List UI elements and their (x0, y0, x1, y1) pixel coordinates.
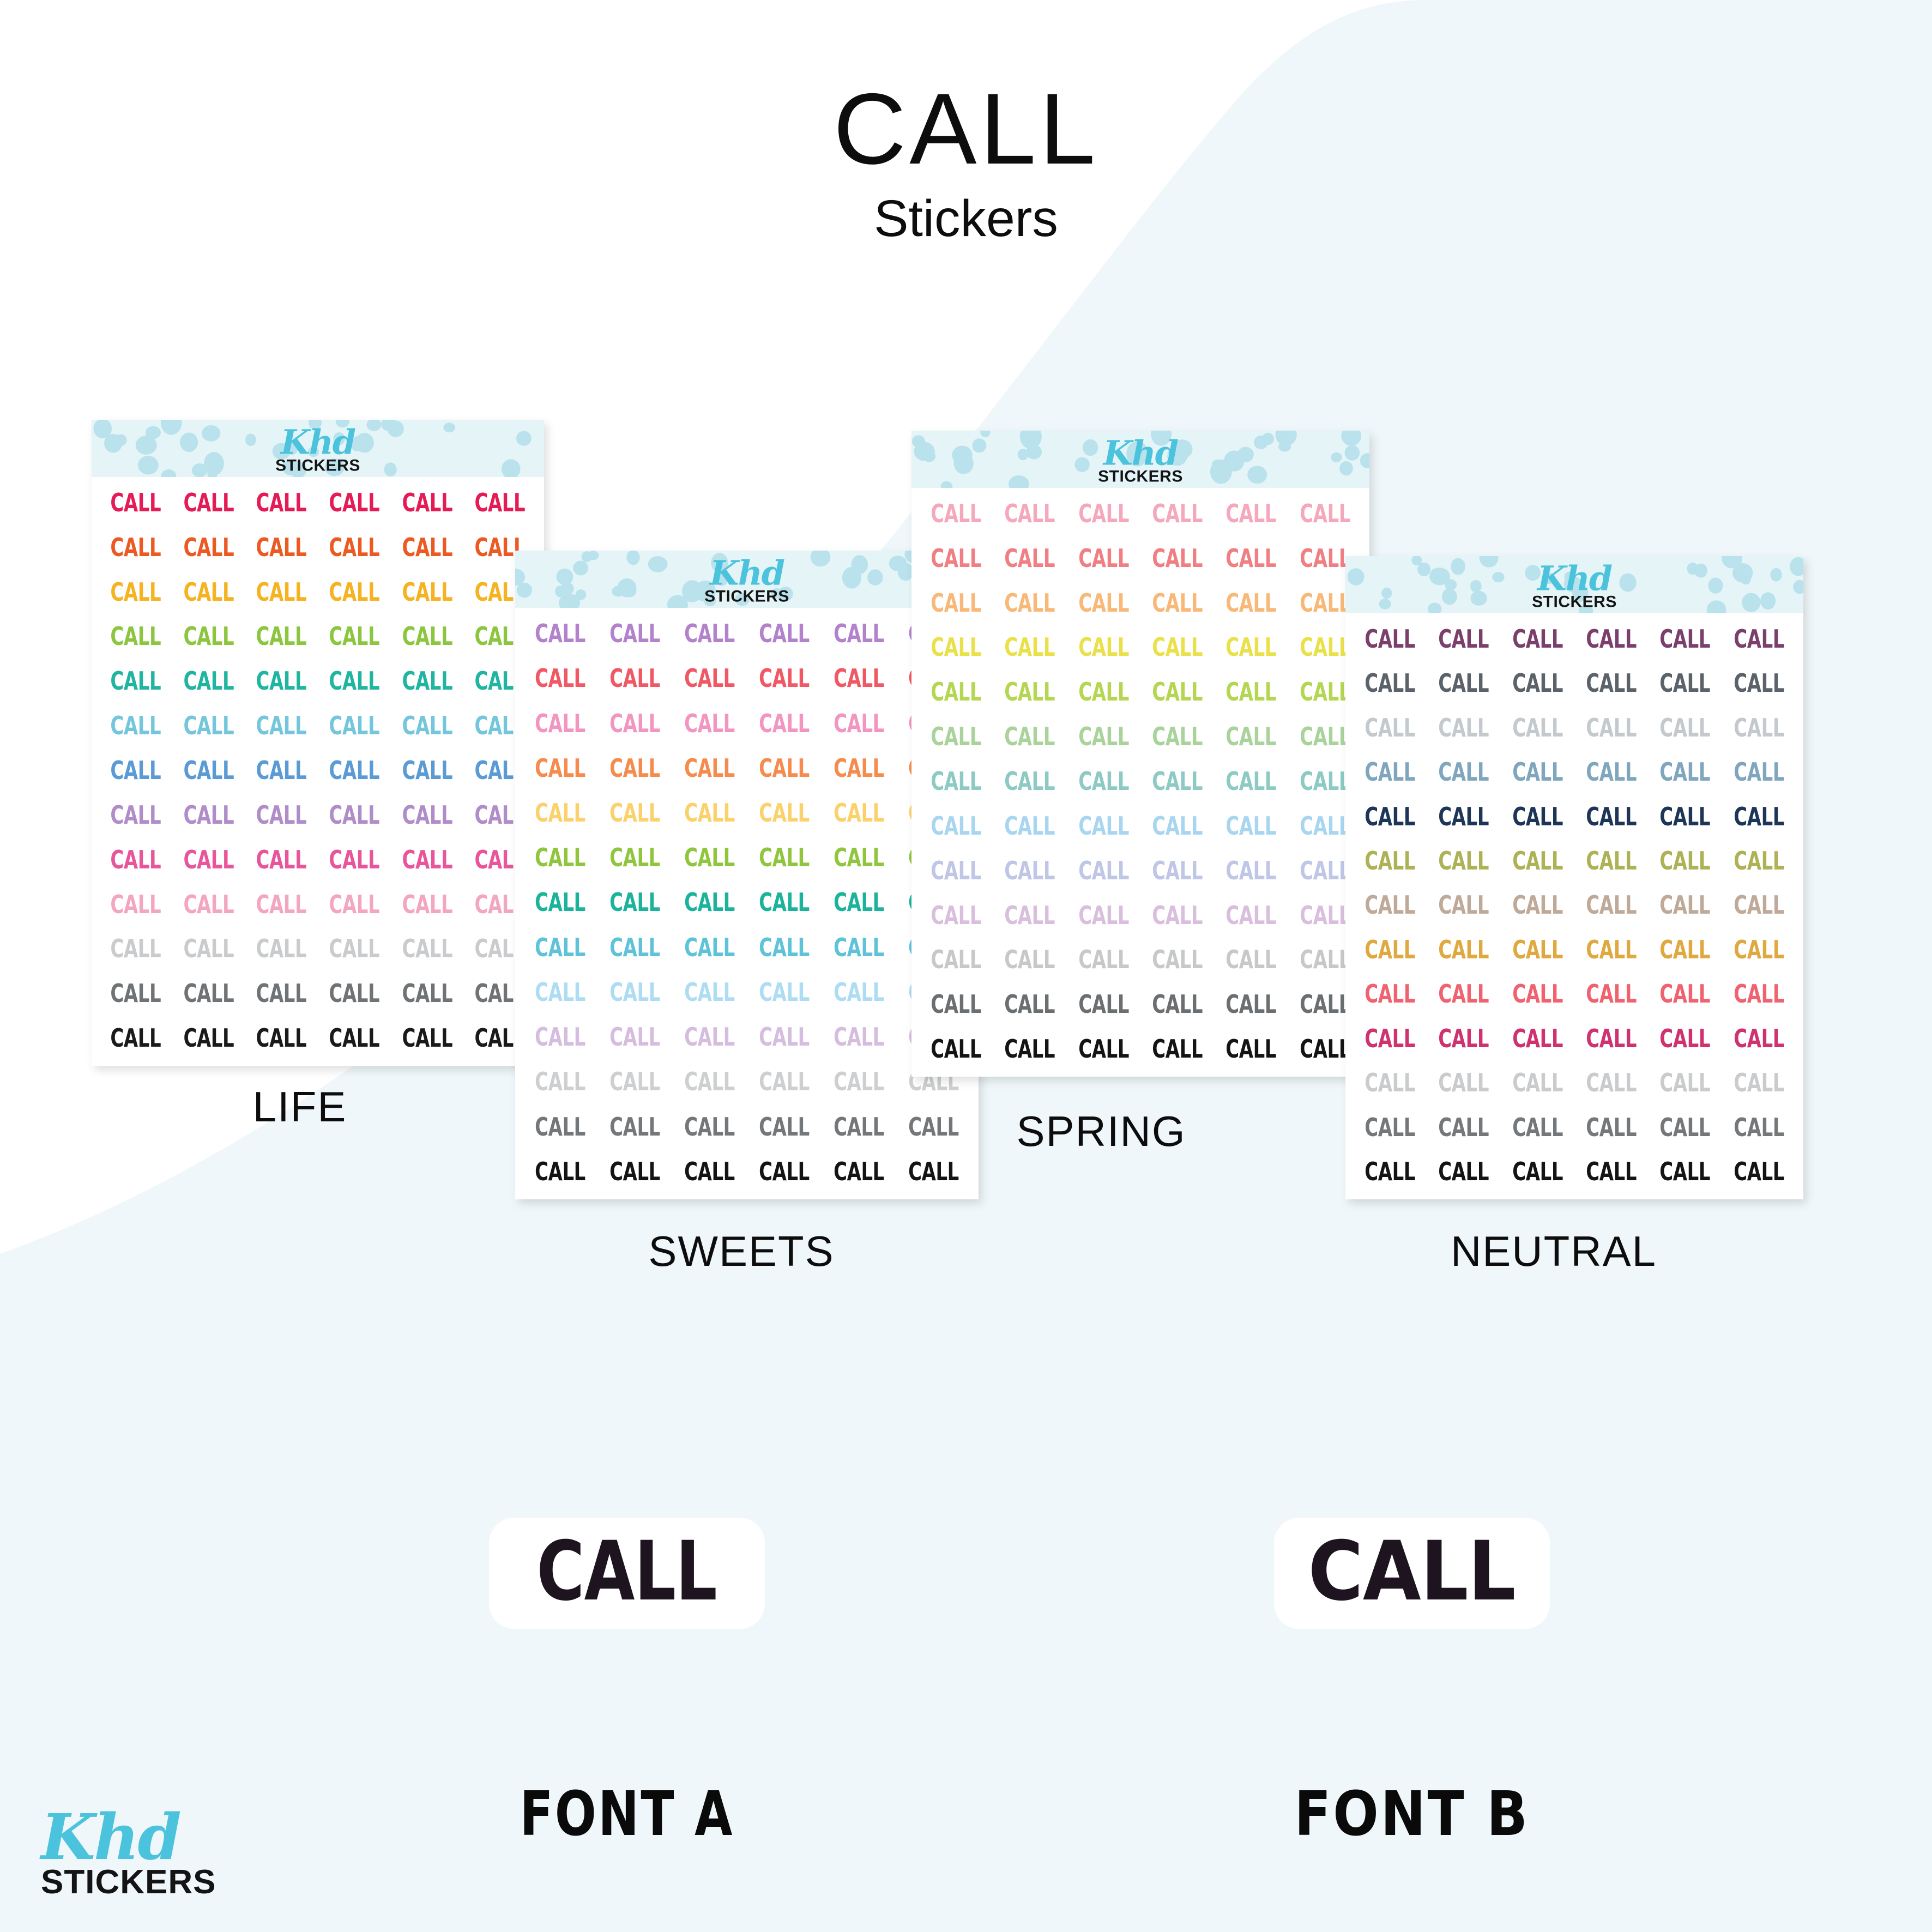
sticker-neutral-r8-c1[interactable]: CALL (1360, 927, 1420, 971)
sheet-caption-sweets: SWEETS (594, 1227, 889, 1276)
sticker-neutral-r5-c5[interactable]: CALL (1655, 794, 1716, 838)
sticker-sweets-r3-c3[interactable]: CALL (679, 701, 740, 745)
sticker-sweets-r1-c1[interactable]: CALL (529, 611, 590, 656)
sticker-life-r9-c4[interactable]: CALL (324, 837, 384, 882)
sticker-neutral-r10-c6[interactable]: CALL (1729, 1016, 1789, 1060)
sticker-neutral-r2-c5[interactable]: CALL (1655, 661, 1716, 705)
sticker-life-r2-c3[interactable]: CALL (251, 525, 311, 570)
sticker-neutral-r2-c4[interactable]: CALL (1581, 661, 1641, 705)
sticker-sweets-r4-c3[interactable]: CALL (679, 746, 740, 790)
sticker-sweets-r11-c2[interactable]: CALL (604, 1059, 665, 1104)
sticker-neutral-r5-c6[interactable]: CALL (1729, 794, 1789, 838)
sticker-neutral-r6-c6[interactable]: CALL (1729, 838, 1789, 883)
sticker-spring-r13-c1[interactable]: CALL (926, 1027, 986, 1071)
sticker-life-r9-c2[interactable]: CALL (179, 837, 239, 882)
sticker-life-r7-c1[interactable]: CALL (106, 748, 166, 793)
sticker-sweets-r13-c5[interactable]: CALL (828, 1149, 889, 1194)
font-sample-a-word: CALL (537, 1531, 717, 1613)
sticker-life-r12-c3[interactable]: CALL (251, 971, 311, 1016)
sticker-neutral-r1-c2[interactable]: CALL (1434, 617, 1494, 661)
sticker-spring-r4-c1[interactable]: CALL (926, 625, 986, 670)
sticker-sweets-r9-c3[interactable]: CALL (679, 970, 740, 1015)
sticker-spring-r13-c2[interactable]: CALL (1000, 1027, 1060, 1071)
sticker-sweets-r9-c1[interactable]: CALL (529, 970, 590, 1015)
sticker-sweets-r8-c2[interactable]: CALL (604, 925, 665, 970)
sticker-neutral-r12-c6[interactable]: CALL (1729, 1105, 1789, 1149)
sticker-life-r1-c6[interactable]: CALL (470, 480, 530, 525)
sticker-life-r4-c1[interactable]: CALL (106, 614, 166, 659)
sticker-spring-r1-c1[interactable]: CALL (926, 491, 986, 536)
sticker-spring-r9-c3[interactable]: CALL (1073, 848, 1134, 893)
sticker-neutral-r1-c4[interactable]: CALL (1581, 617, 1641, 661)
sheet-logo: KhdSTICKERS (1532, 562, 1617, 610)
sticker-sweets-r1-c5[interactable]: CALL (828, 611, 889, 656)
sticker-spring-r8-c4[interactable]: CALL (1147, 804, 1207, 848)
sticker-sweets-r7-c5[interactable]: CALL (828, 880, 889, 925)
sticker-sweets-r10-c1[interactable]: CALL (529, 1015, 590, 1059)
sticker-spring-r2-c4[interactable]: CALL (1147, 536, 1207, 581)
sticker-neutral-r7-c2[interactable]: CALL (1434, 883, 1494, 927)
sticker-spring-r4-c3[interactable]: CALL (1073, 625, 1134, 670)
sticker-spring-r1-c6[interactable]: CALL (1295, 491, 1355, 536)
sticker-sweets-r4-c5[interactable]: CALL (828, 746, 889, 790)
sticker-life-r4-c5[interactable]: CALL (397, 614, 457, 659)
sticker-neutral-r11-c6[interactable]: CALL (1729, 1061, 1789, 1105)
sticker-spring-r12-c5[interactable]: CALL (1221, 982, 1282, 1027)
sheet-logo: KhdSTICKERS (275, 425, 360, 474)
sticker-sweets-r5-c4[interactable]: CALL (753, 790, 814, 835)
sheet-logo-word-text: STICKERS (704, 588, 789, 605)
sticker-life-r8-c2[interactable]: CALL (179, 793, 239, 837)
sticker-spring-r11-c1[interactable]: CALL (926, 937, 986, 982)
sticker-spring-r5-c3[interactable]: CALL (1073, 669, 1134, 714)
sticker-spring-r2-c5[interactable]: CALL (1221, 536, 1282, 581)
sticker-spring-r13-c3[interactable]: CALL (1073, 1027, 1134, 1071)
sticker-life-r7-c5[interactable]: CALL (397, 748, 457, 793)
sticker-life-r10-c3[interactable]: CALL (251, 882, 311, 927)
sticker-spring-r5-c4[interactable]: CALL (1147, 669, 1207, 714)
sticker-sweets-r10-c4[interactable]: CALL (753, 1015, 814, 1059)
sticker-life-r8-c1[interactable]: CALL (106, 793, 166, 837)
sticker-neutral-r11-c2[interactable]: CALL (1434, 1061, 1494, 1105)
sticker-spring-r8-c1[interactable]: CALL (926, 804, 986, 848)
sticker-neutral-r8-c3[interactable]: CALL (1507, 927, 1568, 971)
sticker-neutral-r6-c5[interactable]: CALL (1655, 838, 1716, 883)
sticker-spring-r5-c1[interactable]: CALL (926, 669, 986, 714)
sticker-neutral-r2-c2[interactable]: CALL (1434, 661, 1494, 705)
sticker-sweets-r3-c1[interactable]: CALL (529, 701, 590, 745)
sticker-neutral-r6-c3[interactable]: CALL (1507, 838, 1568, 883)
sticker-neutral-r10-c4[interactable]: CALL (1581, 1016, 1641, 1060)
sticker-neutral-r4-c4[interactable]: CALL (1581, 750, 1641, 794)
sticker-spring-r3-c2[interactable]: CALL (1000, 581, 1060, 625)
sticker-sweets-r2-c5[interactable]: CALL (828, 656, 889, 701)
sticker-sweets-r12-c4[interactable]: CALL (753, 1104, 814, 1149)
sticker-spring-r3-c4[interactable]: CALL (1147, 581, 1207, 625)
sticker-life-r12-c2[interactable]: CALL (179, 971, 239, 1016)
sticker-spring-r7-c3[interactable]: CALL (1073, 759, 1134, 804)
sticker-sweets-r12-c3[interactable]: CALL (679, 1104, 740, 1149)
sticker-life-r11-c3[interactable]: CALL (251, 926, 311, 971)
sticker-life-r2-c1[interactable]: CALL (106, 525, 166, 570)
sticker-sweets-r4-c4[interactable]: CALL (753, 746, 814, 790)
sticker-sweets-r13-c2[interactable]: CALL (604, 1149, 665, 1194)
sticker-sweets-r12-c5[interactable]: CALL (828, 1104, 889, 1149)
sticker-life-r12-c1[interactable]: CALL (106, 971, 166, 1016)
sheet-logo-script-text: Khd (1532, 562, 1617, 595)
sticker-spring-r11-c2[interactable]: CALL (1000, 937, 1060, 982)
sticker-spring-r3-c1[interactable]: CALL (926, 581, 986, 625)
sticker-sweets-r9-c2[interactable]: CALL (604, 970, 665, 1015)
sticker-spring-r4-c2[interactable]: CALL (1000, 625, 1060, 670)
sticker-spring-r1-c4[interactable]: CALL (1147, 491, 1207, 536)
sticker-sheet-neutral[interactable]: KhdSTICKERSCALLCALLCALLCALLCALLCALLCALLC… (1345, 556, 1803, 1199)
sticker-sweets-r11-c3[interactable]: CALL (679, 1059, 740, 1104)
sticker-sweets-r1-c3[interactable]: CALL (679, 611, 740, 656)
sticker-spring-r13-c4[interactable]: CALL (1147, 1027, 1207, 1071)
sticker-spring-r6-c2[interactable]: CALL (1000, 714, 1060, 759)
sticker-spring-r9-c2[interactable]: CALL (1000, 848, 1060, 893)
sticker-spring-r7-c1[interactable]: CALL (926, 759, 986, 804)
sticker-life-r2-c4[interactable]: CALL (324, 525, 384, 570)
sticker-sweets-r7-c4[interactable]: CALL (753, 880, 814, 925)
sticker-neutral-r9-c6[interactable]: CALL (1729, 972, 1789, 1016)
sticker-neutral-r11-c5[interactable]: CALL (1655, 1061, 1716, 1105)
sticker-life-r9-c1[interactable]: CALL (106, 837, 166, 882)
sticker-life-r3-c5[interactable]: CALL (397, 570, 457, 614)
sticker-spring-r10-c3[interactable]: CALL (1073, 893, 1134, 938)
sheet-logo-word-text: STICKERS (1532, 594, 1617, 610)
sticker-life-r10-c1[interactable]: CALL (106, 882, 166, 927)
sticker-sweets-r6-c4[interactable]: CALL (753, 835, 814, 880)
sticker-neutral-r13-c2[interactable]: CALL (1434, 1150, 1494, 1194)
sticker-spring-r9-c4[interactable]: CALL (1147, 848, 1207, 893)
sticker-life-r2-c2[interactable]: CALL (179, 525, 239, 570)
sticker-spring-r2-c1[interactable]: CALL (926, 536, 986, 581)
sticker-spring-r8-c2[interactable]: CALL (1000, 804, 1060, 848)
sticker-neutral-r1-c5[interactable]: CALL (1655, 617, 1716, 661)
sticker-life-r2-c5[interactable]: CALL (397, 525, 457, 570)
sheet-header-band: KhdSTICKERS (92, 420, 544, 477)
sticker-neutral-r1-c3[interactable]: CALL (1507, 617, 1568, 661)
sticker-neutral-r6-c1[interactable]: CALL (1360, 838, 1420, 883)
sticker-neutral-r11-c3[interactable]: CALL (1507, 1061, 1568, 1105)
sticker-life-r1-c5[interactable]: CALL (397, 480, 457, 525)
sticker-neutral-r3-c5[interactable]: CALL (1655, 705, 1716, 750)
sticker-sweets-r9-c5[interactable]: CALL (828, 970, 889, 1015)
sticker-sweets-r3-c2[interactable]: CALL (604, 701, 665, 745)
sticker-neutral-r8-c2[interactable]: CALL (1434, 927, 1494, 971)
sticker-neutral-r7-c1[interactable]: CALL (1360, 883, 1420, 927)
sheet-caption-spring: SPRING (905, 1107, 1297, 1156)
sticker-neutral-r1-c6[interactable]: CALL (1729, 617, 1789, 661)
page-header: CALL Stickers (0, 76, 1932, 250)
sheet-logo: KhdSTICKERS (704, 556, 789, 605)
sticker-neutral-r13-c3[interactable]: CALL (1507, 1150, 1568, 1194)
sticker-sheet-sweets[interactable]: KhdSTICKERSCALLCALLCALLCALLCALLCALLCALLC… (515, 551, 979, 1199)
sticker-sheet-life[interactable]: KhdSTICKERSCALLCALLCALLCALLCALLCALLCALLC… (92, 420, 544, 1066)
sticker-sweets-r3-c5[interactable]: CALL (828, 701, 889, 745)
sticker-spring-r12-c4[interactable]: CALL (1147, 982, 1207, 1027)
sticker-neutral-r13-c1[interactable]: CALL (1360, 1150, 1420, 1194)
sticker-life-r1-c3[interactable]: CALL (251, 480, 311, 525)
sticker-life-r6-c2[interactable]: CALL (179, 703, 239, 748)
sticker-life-r3-c3[interactable]: CALL (251, 570, 311, 614)
sticker-neutral-r9-c5[interactable]: CALL (1655, 972, 1716, 1016)
sticker-life-r3-c1[interactable]: CALL (106, 570, 166, 614)
sticker-neutral-r2-c1[interactable]: CALL (1360, 661, 1420, 705)
sticker-spring-r1-c3[interactable]: CALL (1073, 491, 1134, 536)
sticker-life-r5-c2[interactable]: CALL (179, 659, 239, 703)
sticker-sweets-r10-c2[interactable]: CALL (604, 1015, 665, 1059)
sticker-spring-r7-c5[interactable]: CALL (1221, 759, 1282, 804)
sticker-spring-r3-c5[interactable]: CALL (1221, 581, 1282, 625)
sticker-sweets-r7-c2[interactable]: CALL (604, 880, 665, 925)
sticker-neutral-r4-c1[interactable]: CALL (1360, 750, 1420, 794)
sticker-spring-r1-c5[interactable]: CALL (1221, 491, 1282, 536)
sticker-sweets-r3-c4[interactable]: CALL (753, 701, 814, 745)
sticker-spring-r2-c2[interactable]: CALL (1000, 536, 1060, 581)
sticker-spring-r8-c5[interactable]: CALL (1221, 804, 1282, 848)
sticker-life-r7-c4[interactable]: CALL (324, 748, 384, 793)
sticker-spring-r12-c1[interactable]: CALL (926, 982, 986, 1027)
sticker-spring-r12-c3[interactable]: CALL (1073, 982, 1134, 1027)
sticker-spring-r6-c5[interactable]: CALL (1221, 714, 1282, 759)
sticker-life-r10-c2[interactable]: CALL (179, 882, 239, 927)
sticker-sweets-r8-c4[interactable]: CALL (753, 925, 814, 970)
sticker-life-r11-c2[interactable]: CALL (179, 926, 239, 971)
sheet-header-band: KhdSTICKERS (1345, 556, 1803, 613)
sticker-sweets-r11-c5[interactable]: CALL (828, 1059, 889, 1104)
sticker-life-r5-c4[interactable]: CALL (324, 659, 384, 703)
sticker-neutral-r13-c4[interactable]: CALL (1581, 1150, 1641, 1194)
sticker-life-r4-c2[interactable]: CALL (179, 614, 239, 659)
sticker-life-r9-c3[interactable]: CALL (251, 837, 311, 882)
font-sample-b: CALL FONT B (1199, 1521, 1625, 1845)
sticker-spring-r4-c5[interactable]: CALL (1221, 625, 1282, 670)
sticker-neutral-r1-c1[interactable]: CALL (1360, 617, 1420, 661)
sticker-neutral-r9-c3[interactable]: CALL (1507, 972, 1568, 1016)
sticker-sweets-r5-c2[interactable]: CALL (604, 790, 665, 835)
sticker-sweets-r13-c1[interactable]: CALL (529, 1149, 590, 1194)
sticker-life-r13-c1[interactable]: CALL (106, 1016, 166, 1060)
sticker-neutral-r3-c6[interactable]: CALL (1729, 705, 1789, 750)
font-sample-a-sticker: CALL (492, 1521, 761, 1626)
font-sample-b-word: CALL (1308, 1531, 1516, 1613)
sticker-life-r7-c2[interactable]: CALL (179, 748, 239, 793)
sticker-life-r4-c3[interactable]: CALL (251, 614, 311, 659)
sticker-sweets-r11-c1[interactable]: CALL (529, 1059, 590, 1104)
sticker-neutral-r5-c1[interactable]: CALL (1360, 794, 1420, 838)
sticker-sweets-r8-c3[interactable]: CALL (679, 925, 740, 970)
page-title: CALL (0, 76, 1932, 182)
sticker-neutral-r12-c4[interactable]: CALL (1581, 1105, 1641, 1149)
sticker-life-r6-c3[interactable]: CALL (251, 703, 311, 748)
sticker-life-r12-c4[interactable]: CALL (324, 971, 384, 1016)
sticker-neutral-r7-c4[interactable]: CALL (1581, 883, 1641, 927)
sticker-life-r10-c5[interactable]: CALL (397, 882, 457, 927)
sticker-life-r8-c5[interactable]: CALL (397, 793, 457, 837)
sticker-neutral-r9-c4[interactable]: CALL (1581, 972, 1641, 1016)
sticker-spring-r6-c3[interactable]: CALL (1073, 714, 1134, 759)
sticker-spring-r9-c1[interactable]: CALL (926, 848, 986, 893)
sticker-neutral-r5-c3[interactable]: CALL (1507, 794, 1568, 838)
sticker-neutral-r4-c2[interactable]: CALL (1434, 750, 1494, 794)
sticker-life-r7-c3[interactable]: CALL (251, 748, 311, 793)
sticker-life-r13-c2[interactable]: CALL (179, 1016, 239, 1060)
sticker-sweets-r5-c3[interactable]: CALL (679, 790, 740, 835)
sticker-neutral-r5-c4[interactable]: CALL (1581, 794, 1641, 838)
sticker-spring-r2-c3[interactable]: CALL (1073, 536, 1134, 581)
sticker-neutral-r2-c3[interactable]: CALL (1507, 661, 1568, 705)
sticker-neutral-r12-c1[interactable]: CALL (1360, 1105, 1420, 1149)
sticker-spring-r10-c4[interactable]: CALL (1147, 893, 1207, 938)
sticker-spring-r1-c2[interactable]: CALL (1000, 491, 1060, 536)
sticker-life-r11-c5[interactable]: CALL (397, 926, 457, 971)
sticker-neutral-r9-c1[interactable]: CALL (1360, 972, 1420, 1016)
sheet-caption-life: LIFE (164, 1082, 436, 1132)
sticker-life-r6-c4[interactable]: CALL (324, 703, 384, 748)
page-subtitle: Stickers (0, 188, 1932, 250)
sticker-spring-r11-c5[interactable]: CALL (1221, 937, 1282, 982)
sticker-life-r1-c1[interactable]: CALL (106, 480, 166, 525)
sticker-sweets-r13-c3[interactable]: CALL (679, 1149, 740, 1194)
sticker-neutral-r10-c5[interactable]: CALL (1655, 1016, 1716, 1060)
sticker-sweets-r10-c3[interactable]: CALL (679, 1015, 740, 1059)
sticker-neutral-r11-c1[interactable]: CALL (1360, 1061, 1420, 1105)
sticker-sweets-r4-c1[interactable]: CALL (529, 746, 590, 790)
sticker-spring-r3-c3[interactable]: CALL (1073, 581, 1134, 625)
sticker-neutral-r13-c6[interactable]: CALL (1729, 1150, 1789, 1194)
sticker-spring-r8-c3[interactable]: CALL (1073, 804, 1134, 848)
sticker-sweets-r1-c4[interactable]: CALL (753, 611, 814, 656)
sticker-spring-r7-c4[interactable]: CALL (1147, 759, 1207, 804)
sticker-life-r5-c3[interactable]: CALL (251, 659, 311, 703)
sticker-neutral-r7-c3[interactable]: CALL (1507, 883, 1568, 927)
sticker-sheet-spring[interactable]: KhdSTICKERSCALLCALLCALLCALLCALLCALLCALLC… (911, 431, 1369, 1077)
sticker-life-r11-c1[interactable]: CALL (106, 926, 166, 971)
sticker-life-r6-c5[interactable]: CALL (397, 703, 457, 748)
sticker-spring-r4-c4[interactable]: CALL (1147, 625, 1207, 670)
sticker-life-r8-c3[interactable]: CALL (251, 793, 311, 837)
sticker-life-r3-c4[interactable]: CALL (324, 570, 384, 614)
sticker-sweets-r11-c4[interactable]: CALL (753, 1059, 814, 1104)
sticker-neutral-r4-c6[interactable]: CALL (1729, 750, 1789, 794)
sticker-spring-r10-c1[interactable]: CALL (926, 893, 986, 938)
sticker-sweets-r5-c1[interactable]: CALL (529, 790, 590, 835)
sticker-spring-r9-c5[interactable]: CALL (1221, 848, 1282, 893)
sticker-neutral-r12-c5[interactable]: CALL (1655, 1105, 1716, 1149)
sticker-spring-r11-c4[interactable]: CALL (1147, 937, 1207, 982)
sticker-life-r1-c4[interactable]: CALL (324, 480, 384, 525)
sticker-neutral-r8-c6[interactable]: CALL (1729, 927, 1789, 971)
sticker-neutral-r5-c2[interactable]: CALL (1434, 794, 1494, 838)
sticker-sweets-r12-c2[interactable]: CALL (604, 1104, 665, 1149)
sticker-neutral-r3-c4[interactable]: CALL (1581, 705, 1641, 750)
sticker-spring-r6-c4[interactable]: CALL (1147, 714, 1207, 759)
sticker-neutral-r9-c2[interactable]: CALL (1434, 972, 1494, 1016)
sticker-spring-r12-c2[interactable]: CALL (1000, 982, 1060, 1027)
sticker-sweets-r6-c3[interactable]: CALL (679, 835, 740, 880)
sticker-neutral-r8-c5[interactable]: CALL (1655, 927, 1716, 971)
sticker-sweets-r12-c1[interactable]: CALL (529, 1104, 590, 1149)
sticker-sweets-r1-c2[interactable]: CALL (604, 611, 665, 656)
sticker-sweets-r13-c4[interactable]: CALL (753, 1149, 814, 1194)
sticker-life-r9-c5[interactable]: CALL (397, 837, 457, 882)
sticker-sweets-r6-c1[interactable]: CALL (529, 835, 590, 880)
sticker-neutral-r10-c3[interactable]: CALL (1507, 1016, 1568, 1060)
sticker-neutral-r2-c6[interactable]: CALL (1729, 661, 1789, 705)
sticker-sweets-r2-c4[interactable]: CALL (753, 656, 814, 701)
sticker-sweets-r5-c5[interactable]: CALL (828, 790, 889, 835)
sticker-life-r4-c4[interactable]: CALL (324, 614, 384, 659)
sticker-sweets-r7-c1[interactable]: CALL (529, 880, 590, 925)
sticker-spring-r7-c2[interactable]: CALL (1000, 759, 1060, 804)
sticker-spring-r5-c5[interactable]: CALL (1221, 669, 1282, 714)
sticker-spring-r13-c5[interactable]: CALL (1221, 1027, 1282, 1071)
sticker-life-r5-c1[interactable]: CALL (106, 659, 166, 703)
sticker-life-r13-c5[interactable]: CALL (397, 1016, 457, 1060)
sticker-neutral-r4-c5[interactable]: CALL (1655, 750, 1716, 794)
sticker-neutral-r12-c2[interactable]: CALL (1434, 1105, 1494, 1149)
sticker-neutral-r7-c5[interactable]: CALL (1655, 883, 1716, 927)
sticker-life-r11-c4[interactable]: CALL (324, 926, 384, 971)
sticker-neutral-r3-c1[interactable]: CALL (1360, 705, 1420, 750)
sticker-neutral-r10-c2[interactable]: CALL (1434, 1016, 1494, 1060)
sticker-sweets-r9-c4[interactable]: CALL (753, 970, 814, 1015)
sticker-neutral-r3-c2[interactable]: CALL (1434, 705, 1494, 750)
sticker-neutral-r4-c3[interactable]: CALL (1507, 750, 1568, 794)
sticker-life-r10-c4[interactable]: CALL (324, 882, 384, 927)
sticker-life-r13-c3[interactable]: CALL (251, 1016, 311, 1060)
sticker-sweets-r6-c2[interactable]: CALL (604, 835, 665, 880)
sticker-neutral-r13-c5[interactable]: CALL (1655, 1150, 1716, 1194)
sticker-spring-r6-c1[interactable]: CALL (926, 714, 986, 759)
sticker-life-r3-c2[interactable]: CALL (179, 570, 239, 614)
sticker-spring-r10-c5[interactable]: CALL (1221, 893, 1282, 938)
sticker-neutral-r6-c4[interactable]: CALL (1581, 838, 1641, 883)
sticker-life-r13-c4[interactable]: CALL (324, 1016, 384, 1060)
sticker-life-r6-c1[interactable]: CALL (106, 703, 166, 748)
sheet-logo-script-text: Khd (1098, 436, 1183, 470)
sticker-neutral-r11-c4[interactable]: CALL (1581, 1061, 1641, 1105)
sticker-sweets-r7-c3[interactable]: CALL (679, 880, 740, 925)
sticker-spring-r11-c3[interactable]: CALL (1073, 937, 1134, 982)
sticker-neutral-r8-c4[interactable]: CALL (1581, 927, 1641, 971)
sticker-spring-r5-c2[interactable]: CALL (1000, 669, 1060, 714)
sticker-sweets-r2-c1[interactable]: CALL (529, 656, 590, 701)
sticker-life-r5-c5[interactable]: CALL (397, 659, 457, 703)
sticker-neutral-r3-c3[interactable]: CALL (1507, 705, 1568, 750)
sticker-neutral-r12-c3[interactable]: CALL (1507, 1105, 1568, 1149)
sticker-neutral-r7-c6[interactable]: CALL (1729, 883, 1789, 927)
sticker-sweets-r8-c5[interactable]: CALL (828, 925, 889, 970)
sheet-caption-neutral: NEUTRAL (1276, 1227, 1832, 1276)
sticker-sweets-r2-c3[interactable]: CALL (679, 656, 740, 701)
sticker-neutral-r10-c1[interactable]: CALL (1360, 1016, 1420, 1060)
sticker-life-r12-c5[interactable]: CALL (397, 971, 457, 1016)
sticker-spring-r10-c2[interactable]: CALL (1000, 893, 1060, 938)
brand-script-text: Khd (41, 1806, 216, 1869)
sticker-sweets-r8-c1[interactable]: CALL (529, 925, 590, 970)
sticker-sweets-r2-c2[interactable]: CALL (604, 656, 665, 701)
sticker-life-r8-c4[interactable]: CALL (324, 793, 384, 837)
sticker-sweets-r4-c2[interactable]: CALL (604, 746, 665, 790)
sticker-neutral-r6-c2[interactable]: CALL (1434, 838, 1494, 883)
sticker-life-r1-c2[interactable]: CALL (179, 480, 239, 525)
sticker-sweets-r10-c5[interactable]: CALL (828, 1015, 889, 1059)
sticker-sweets-r6-c5[interactable]: CALL (828, 835, 889, 880)
